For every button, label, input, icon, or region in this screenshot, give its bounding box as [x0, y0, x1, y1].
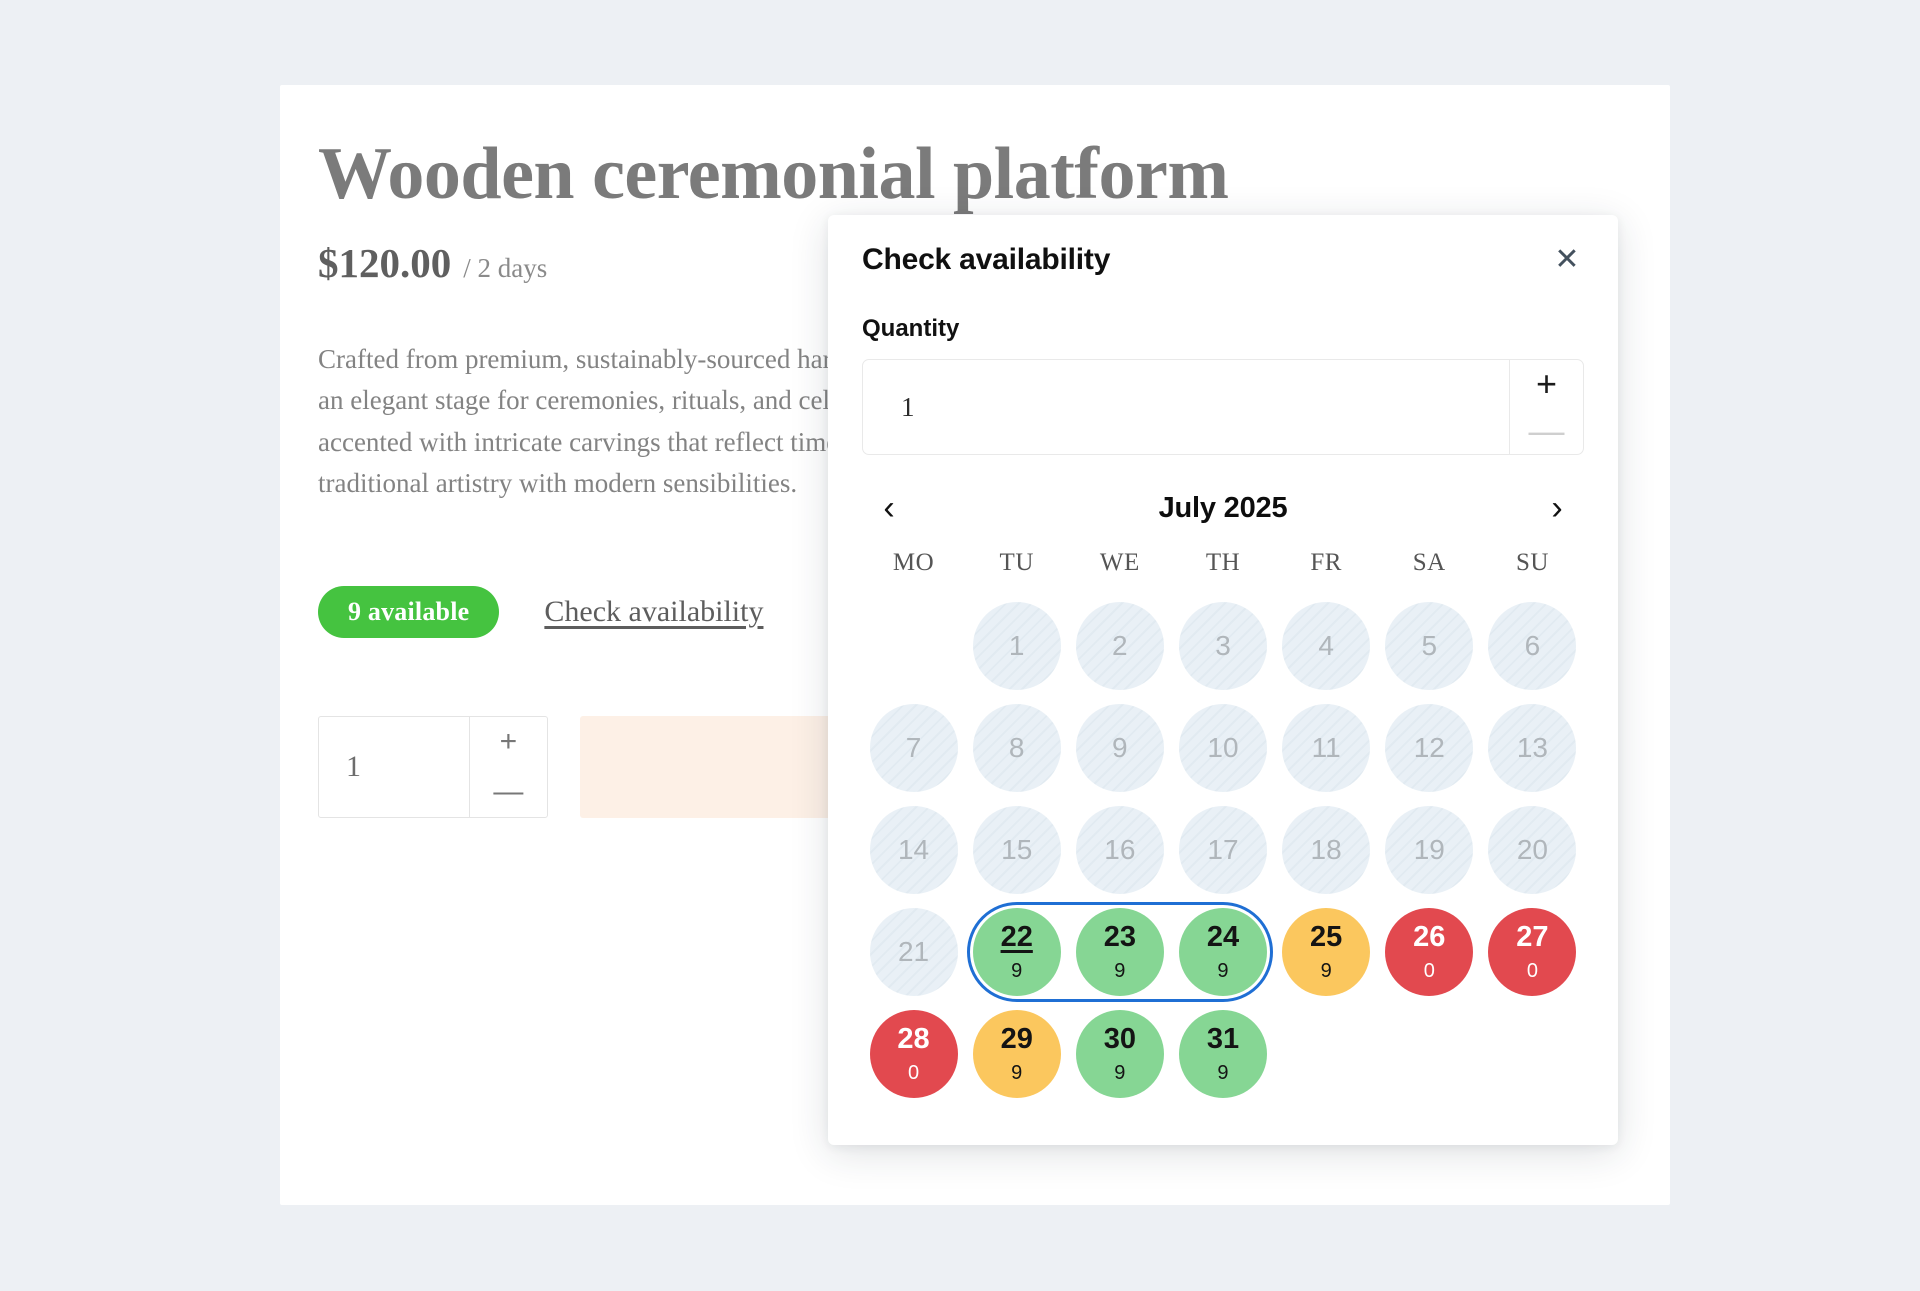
calendar-cell: 4 — [1275, 595, 1378, 697]
price-unit: / 2 days — [463, 253, 547, 284]
calendar-day-number: 31 — [1207, 1025, 1239, 1054]
calendar-day-30[interactable]: 309 — [1076, 1010, 1164, 1098]
calendar-month-label: July 2025 — [1159, 492, 1288, 525]
calendar-day-10: 10 — [1179, 704, 1267, 792]
calendar-day-quantity: 9 — [1217, 961, 1228, 981]
calendar-day-number: 6 — [1525, 632, 1541, 660]
calendar-day-number: 22 — [1001, 923, 1033, 952]
calendar-day-number: 7 — [906, 734, 922, 762]
quantity-stepper[interactable]: 1 + — — [318, 716, 548, 818]
calendar-day-number: 10 — [1207, 734, 1238, 762]
modal-quantity-increment-button[interactable]: + — [1510, 360, 1583, 407]
calendar-day-quantity: 9 — [1321, 961, 1332, 981]
calendar-cell: 299 — [965, 1003, 1068, 1105]
calendar-day-number: 16 — [1104, 836, 1135, 864]
modal-quantity-input[interactable]: 1 — [863, 360, 1509, 454]
calendar-cell: 14 — [862, 799, 965, 901]
close-icon[interactable]: ✕ — [1550, 243, 1584, 277]
calendar-cell: 319 — [1171, 1003, 1274, 1105]
calendar-day-number: 14 — [898, 836, 929, 864]
calendar-day-number: 4 — [1318, 632, 1334, 660]
calendar-day-25[interactable]: 259 — [1282, 908, 1370, 996]
calendar-day-number: 24 — [1207, 923, 1239, 952]
calendar-day-number: 9 — [1112, 734, 1128, 762]
calendar-day-19: 19 — [1385, 806, 1473, 894]
calendar-day-4: 4 — [1282, 602, 1370, 690]
calendar-cell: 10 — [1171, 697, 1274, 799]
calendar-day-number: 1 — [1009, 632, 1025, 660]
calendar-cell: 11 — [1275, 697, 1378, 799]
modal-header: Check availability ✕ — [862, 243, 1584, 277]
calendar-day-number: 5 — [1421, 632, 1437, 660]
calendar-day-number: 23 — [1104, 923, 1136, 952]
page-title: Wooden ceremonial platform — [318, 135, 1610, 213]
calendar-cell: 19 — [1378, 799, 1481, 901]
page-root: Wooden ceremonial platform $120.00 / 2 d… — [0, 0, 1920, 1291]
calendar-day-7: 7 — [870, 704, 958, 792]
calendar-day-quantity: 9 — [1217, 1063, 1228, 1083]
calendar-cell: 2 — [1068, 595, 1171, 697]
calendar-grid: MOTUWETHFRSASU12345678910111213141516171… — [862, 549, 1584, 1105]
chevron-left-icon[interactable]: ‹ — [872, 491, 906, 525]
calendar-day-number: 13 — [1517, 734, 1548, 762]
calendar-day-23[interactable]: 239 — [1076, 908, 1164, 996]
calendar-day-6: 6 — [1488, 602, 1576, 690]
calendar-day-number: 18 — [1311, 836, 1342, 864]
calendar-weekday-sa: SA — [1378, 549, 1481, 595]
calendar-cell: 17 — [1171, 799, 1274, 901]
calendar-day-quantity: 0 — [1424, 961, 1435, 981]
calendar-day-29[interactable]: 299 — [973, 1010, 1061, 1098]
calendar-day-12: 12 — [1385, 704, 1473, 792]
modal-title: Check availability — [862, 243, 1110, 277]
chevron-right-icon[interactable]: › — [1540, 491, 1574, 525]
calendar-cell: 280 — [862, 1003, 965, 1105]
calendar-day-15: 15 — [973, 806, 1061, 894]
calendar-day-number: 27 — [1516, 923, 1548, 952]
calendar-cell: 259 — [1275, 901, 1378, 1003]
calendar-day-number: 20 — [1517, 836, 1548, 864]
calendar-weekday-we: WE — [1068, 549, 1171, 595]
calendar-day-number: 21 — [898, 938, 929, 966]
price-amount: $120.00 — [318, 239, 451, 287]
calendar-day-3: 3 — [1179, 602, 1267, 690]
calendar-cell: 13 — [1481, 697, 1584, 799]
calendar-cell: 5 — [1378, 595, 1481, 697]
calendar-day-number: 2 — [1112, 632, 1128, 660]
quantity-buttons: + — — [469, 717, 547, 817]
calendar-cell: 3 — [1171, 595, 1274, 697]
calendar-day-number: 29 — [1001, 1025, 1033, 1054]
calendar-day-quantity: 9 — [1011, 1063, 1022, 1083]
calendar-day-20: 20 — [1488, 806, 1576, 894]
modal-quantity-buttons: + — — [1509, 360, 1583, 454]
calendar-day-9: 9 — [1076, 704, 1164, 792]
calendar-cell: 15 — [965, 799, 1068, 901]
calendar-day-number: 11 — [1312, 734, 1341, 762]
calendar-day-13: 13 — [1488, 704, 1576, 792]
calendar-day-31[interactable]: 319 — [1179, 1010, 1267, 1098]
calendar-day-number: 19 — [1414, 836, 1445, 864]
calendar-blank-cell — [862, 595, 965, 697]
calendar-cell: 20 — [1481, 799, 1584, 901]
calendar-day-5: 5 — [1385, 602, 1473, 690]
calendar-day-number: 8 — [1009, 734, 1025, 762]
calendar-day-quantity: 9 — [1114, 1063, 1125, 1083]
calendar-day-quantity: 0 — [908, 1063, 919, 1083]
calendar-cell: 7 — [862, 697, 965, 799]
calendar-cell: 9 — [1068, 697, 1171, 799]
calendar-cell: 6 — [1481, 595, 1584, 697]
calendar-weekday-su: SU — [1481, 549, 1584, 595]
quantity-increment-button[interactable]: + — [470, 717, 547, 767]
calendar-weekday-th: TH — [1171, 549, 1274, 595]
calendar-cell: 229 — [965, 901, 1068, 1003]
calendar-weekday-mo: MO — [862, 549, 965, 595]
calendar-weekday-fr: FR — [1275, 549, 1378, 595]
calendar-day-11: 11 — [1282, 704, 1370, 792]
calendar-day-22[interactable]: 229 — [973, 908, 1061, 996]
calendar-day-24[interactable]: 249 — [1179, 908, 1267, 996]
calendar-cell: 16 — [1068, 799, 1171, 901]
calendar-day-26[interactable]: 260 — [1385, 908, 1473, 996]
quantity-decrement-button[interactable]: — — [470, 767, 547, 817]
calendar-cell: 260 — [1378, 901, 1481, 1003]
quantity-input[interactable]: 1 — [319, 717, 469, 817]
calendar-cell: 249 — [1171, 901, 1274, 1003]
calendar-day-number: 12 — [1414, 734, 1445, 762]
calendar-day-quantity: 9 — [1011, 961, 1022, 981]
calendar-day-8: 8 — [973, 704, 1061, 792]
calendar-day-number: 30 — [1104, 1025, 1136, 1054]
calendar-cell: 270 — [1481, 901, 1584, 1003]
calendar-day-number: 25 — [1310, 923, 1342, 952]
check-availability-link[interactable]: Check availability — [544, 595, 763, 629]
calendar-day-28[interactable]: 280 — [870, 1010, 958, 1098]
calendar-day-number: 15 — [1001, 836, 1032, 864]
calendar-cell: 18 — [1275, 799, 1378, 901]
calendar-day-number: 28 — [897, 1025, 929, 1054]
calendar-day-quantity: 0 — [1527, 961, 1538, 981]
calendar-cell: 1 — [965, 595, 1068, 697]
calendar-day-number: 26 — [1413, 923, 1445, 952]
modal-quantity-label: Quantity — [862, 315, 1584, 343]
calendar-day-number: 3 — [1215, 632, 1231, 660]
calendar-day-1: 1 — [973, 602, 1061, 690]
calendar-weekday-tu: TU — [965, 549, 1068, 595]
check-availability-modal: Check availability ✕ Quantity 1 + — ‹ Ju… — [828, 215, 1618, 1145]
calendar-cell: 12 — [1378, 697, 1481, 799]
calendar-header: ‹ July 2025 › — [862, 491, 1584, 525]
calendar-day-27[interactable]: 270 — [1488, 908, 1576, 996]
calendar-cell: 309 — [1068, 1003, 1171, 1105]
modal-quantity-decrement-button: — — [1510, 407, 1583, 454]
calendar-day-2: 2 — [1076, 602, 1164, 690]
calendar-day-21: 21 — [870, 908, 958, 996]
calendar-day-number: 17 — [1207, 836, 1238, 864]
modal-quantity-stepper[interactable]: 1 + — — [862, 359, 1584, 455]
calendar-day-14: 14 — [870, 806, 958, 894]
status-badge: 9 available — [318, 586, 499, 638]
calendar-day-18: 18 — [1282, 806, 1370, 894]
calendar-cell: 239 — [1068, 901, 1171, 1003]
calendar-cell: 21 — [862, 901, 965, 1003]
calendar-day-quantity: 9 — [1114, 961, 1125, 981]
calendar-day-17: 17 — [1179, 806, 1267, 894]
calendar-cell: 8 — [965, 697, 1068, 799]
calendar-day-16: 16 — [1076, 806, 1164, 894]
